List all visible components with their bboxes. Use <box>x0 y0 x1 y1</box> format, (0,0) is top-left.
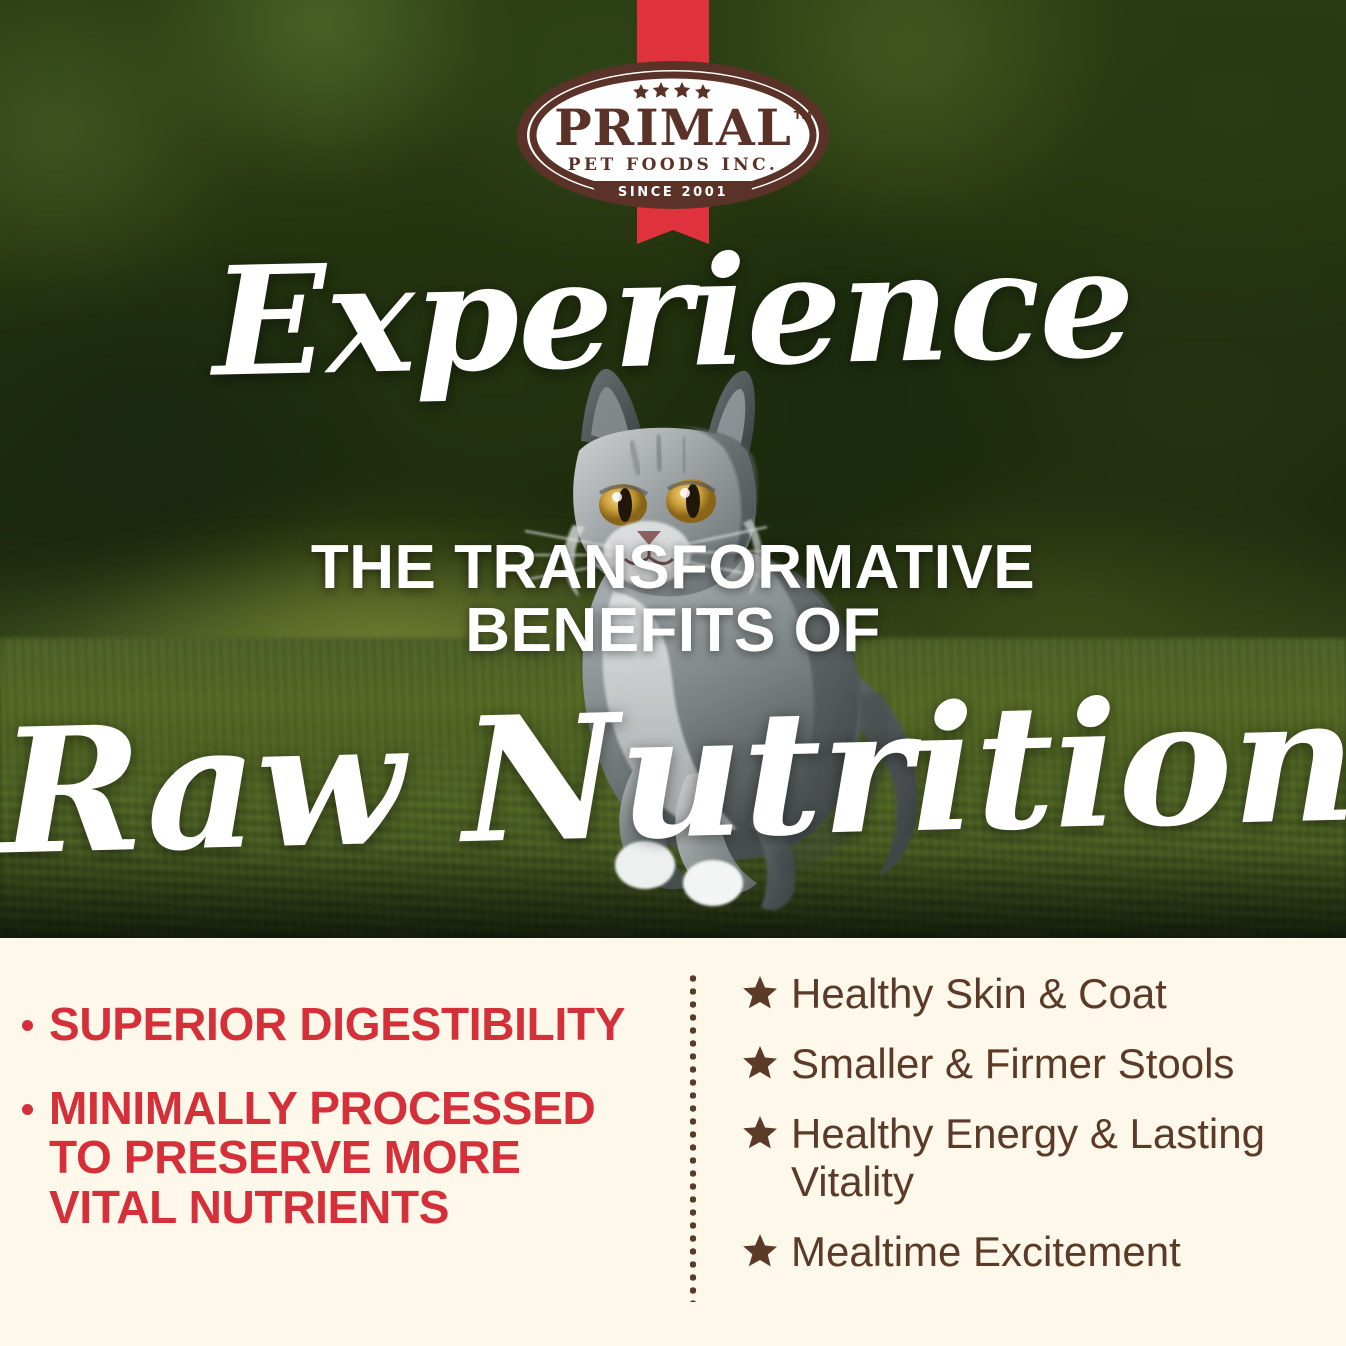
star-icon <box>742 1232 778 1268</box>
benefit-list-item: Mealtime Excitement <box>742 1228 1326 1276</box>
benefits-left-column: SUPERIOR DIGESTIBILITY MINIMALLY PROCESS… <box>0 938 672 1346</box>
benefit-label: Healthy Skin & Coat <box>791 970 1167 1018</box>
benefit-list-item: SUPERIOR DIGESTIBILITY <box>22 1000 642 1050</box>
dotted-divider <box>690 972 696 1302</box>
logo-since: SINCE 2001 <box>618 185 728 200</box>
subhead-line-1: THE TRANSFORMATIVE <box>0 536 1346 599</box>
primal-raw-nutrition-poster: PRIMAL TM PET FOODS INC. SINCE 2001 Expe… <box>0 0 1346 1346</box>
headline-subhead: THE TRANSFORMATIVE BENEFITS OF <box>0 536 1346 662</box>
headline-script-raw-nutrition: Raw Nutrition <box>0 674 1346 879</box>
bullet-dot-icon <box>22 1104 33 1115</box>
benefit-label: MINIMALLY PROCESSED TO PRESERVE MORE VIT… <box>49 1084 642 1233</box>
logo-trademark: TM <box>794 109 812 122</box>
logo-wordmark: PRIMAL <box>554 98 792 157</box>
benefit-list-item: Smaller & Firmer Stools <box>742 1040 1326 1088</box>
star-icon <box>742 1114 778 1150</box>
benefits-right-column: Healthy Skin & Coat Smaller & Firmer Sto… <box>672 938 1346 1346</box>
benefit-label: Smaller & Firmer Stools <box>791 1040 1234 1088</box>
headline-script-experience: Experience <box>0 224 1346 402</box>
bullet-dot-icon <box>22 1020 33 1031</box>
benefit-label: Mealtime Excitement <box>791 1228 1181 1276</box>
star-icon <box>742 974 778 1010</box>
benefit-list-item: Healthy Skin & Coat <box>742 970 1326 1018</box>
hero-photo: PRIMAL TM PET FOODS INC. SINCE 2001 Expe… <box>0 0 1346 938</box>
benefit-label: SUPERIOR DIGESTIBILITY <box>49 1000 625 1050</box>
benefit-label: Healthy Energy & Lasting Vitality <box>791 1110 1326 1206</box>
star-icon <box>742 1044 778 1080</box>
logo-tagline: PET FOODS INC. <box>568 155 779 175</box>
benefit-list-item: MINIMALLY PROCESSED TO PRESERVE MORE VIT… <box>22 1084 642 1233</box>
benefit-list-item: Healthy Energy & Lasting Vitality <box>742 1110 1326 1206</box>
benefits-panel: SUPERIOR DIGESTIBILITY MINIMALLY PROCESS… <box>0 938 1346 1346</box>
primal-logo: PRIMAL TM PET FOODS INC. SINCE 2001 <box>515 55 831 215</box>
subhead-line-2: BENEFITS OF <box>0 599 1346 662</box>
